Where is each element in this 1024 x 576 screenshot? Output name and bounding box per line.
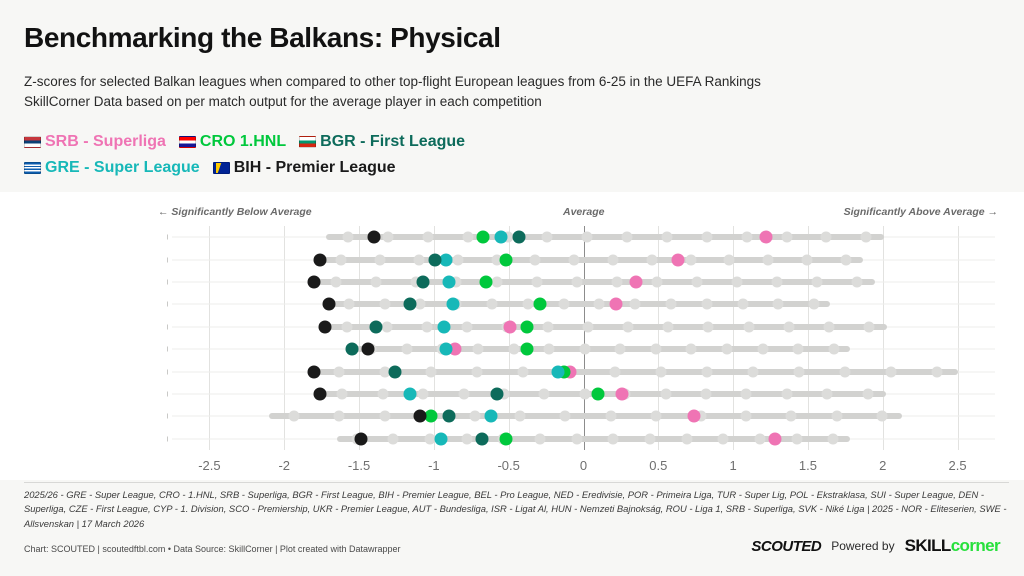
other-league-point <box>487 299 498 310</box>
other-league-point <box>377 389 388 400</box>
data-point-bgr[interactable] <box>477 231 490 244</box>
other-league-point <box>724 254 735 265</box>
other-league-point <box>630 299 641 310</box>
other-league-point <box>748 366 759 377</box>
other-league-point <box>685 254 696 265</box>
other-league-point <box>518 366 529 377</box>
legend-item-label: GRE - Super League <box>45 159 200 176</box>
other-league-point <box>401 344 412 355</box>
other-league-point <box>737 299 748 310</box>
other-league-point <box>515 411 526 422</box>
scatter-plot: -2.5-2-1.5-1-0.500.511.522.5PSV-99Sprint… <box>172 226 995 450</box>
data-point-gre[interactable] <box>442 276 455 289</box>
other-league-point <box>615 344 626 355</box>
other-league-point <box>661 232 672 243</box>
other-league-point <box>611 277 622 288</box>
other-league-point <box>289 411 300 422</box>
other-league-point <box>755 433 766 444</box>
data-point-bgr[interactable] <box>520 343 533 356</box>
other-league-point <box>452 254 463 265</box>
data-point-srb[interactable] <box>504 320 517 333</box>
other-league-point <box>535 433 546 444</box>
x-axis-tick-label: 1 <box>730 458 737 473</box>
other-league-point <box>522 299 533 310</box>
other-league-point <box>781 389 792 400</box>
chart-page: Benchmarking the Balkans: Physical Z-sco… <box>0 0 1024 576</box>
data-point-bih[interactable] <box>323 298 336 311</box>
skillcorner-logo: SKILLcorner <box>905 536 1000 556</box>
data-point-srb[interactable] <box>616 388 629 401</box>
data-point-gre[interactable] <box>438 320 451 333</box>
other-league-point <box>741 411 752 422</box>
other-league-point <box>703 321 714 332</box>
data-point-bgr[interactable] <box>480 276 493 289</box>
data-point-cro[interactable] <box>442 410 455 423</box>
y-axis-tick <box>167 324 168 329</box>
data-point-bih[interactable] <box>308 276 321 289</box>
y-axis-tick <box>167 436 168 441</box>
other-league-point <box>757 344 768 355</box>
other-league-point <box>700 389 711 400</box>
other-league-point <box>582 232 593 243</box>
other-league-point <box>732 277 743 288</box>
data-point-bgr[interactable] <box>592 388 605 401</box>
other-league-point <box>812 277 823 288</box>
skillcorner-logo-skill: SKILL <box>905 536 951 555</box>
croatia-flag-icon <box>179 136 196 148</box>
data-point-bgr[interactable] <box>499 253 512 266</box>
other-league-point <box>508 344 519 355</box>
other-league-point <box>650 344 661 355</box>
other-league-point <box>530 254 541 265</box>
other-league-point <box>861 232 872 243</box>
other-league-point <box>786 411 797 422</box>
x-axis-tick-label: -2.5 <box>198 458 220 473</box>
other-league-point <box>802 254 813 265</box>
axis-hint-center: Average <box>563 206 604 218</box>
other-league-point <box>542 321 553 332</box>
y-axis-tick <box>167 347 168 352</box>
data-point-gre[interactable] <box>495 231 508 244</box>
data-point-cro[interactable] <box>388 365 401 378</box>
other-league-point <box>701 299 712 310</box>
range-bar <box>320 257 863 263</box>
other-league-point <box>743 321 754 332</box>
range-bar <box>269 413 902 419</box>
data-point-bgr[interactable] <box>499 432 512 445</box>
y-axis-tick <box>167 235 168 240</box>
other-league-point <box>579 389 590 400</box>
data-point-cro[interactable] <box>417 276 430 289</box>
data-point-srb[interactable] <box>769 432 782 445</box>
other-league-point <box>341 321 352 332</box>
data-point-srb[interactable] <box>629 276 642 289</box>
data-point-bih[interactable] <box>314 388 327 401</box>
other-league-point <box>623 321 634 332</box>
other-league-point <box>828 433 839 444</box>
legend-item-bih: BIH - Premier League <box>213 156 396 182</box>
other-league-point <box>539 389 550 400</box>
other-league-point <box>650 411 661 422</box>
data-point-cro[interactable] <box>403 298 416 311</box>
other-league-point <box>885 366 896 377</box>
other-league-point <box>610 366 621 377</box>
other-league-point <box>645 433 656 444</box>
other-league-point <box>691 277 702 288</box>
data-point-cro[interactable] <box>513 231 526 244</box>
x-axis-tick-label: 1.5 <box>799 458 817 473</box>
data-point-cro[interactable] <box>490 388 503 401</box>
other-league-point <box>722 344 733 355</box>
range-bar <box>314 369 957 375</box>
other-league-point <box>544 344 555 355</box>
other-league-point <box>793 344 804 355</box>
other-league-point <box>931 366 942 377</box>
y-axis-tick <box>167 302 168 307</box>
other-league-point <box>651 277 662 288</box>
bosnia-flag-icon <box>213 162 230 174</box>
axis-hint-right: Significantly Above Average → <box>844 206 998 218</box>
legend-item-gre: GRE - Super League <box>24 156 200 182</box>
other-league-point <box>571 433 582 444</box>
other-league-point <box>741 232 752 243</box>
x-axis-tick-label: -1 <box>428 458 440 473</box>
footnote-text: 2025/26 - GRE - Super League, CRO - 1.HN… <box>24 488 1009 531</box>
other-league-point <box>791 433 802 444</box>
other-league-point <box>622 232 633 243</box>
other-league-point <box>334 411 345 422</box>
subtitle-line-1: Z-scores for selected Balkan leagues whe… <box>24 72 954 92</box>
other-league-point <box>823 321 834 332</box>
data-point-bih[interactable] <box>314 253 327 266</box>
other-league-point <box>876 411 887 422</box>
data-point-gre[interactable] <box>552 365 565 378</box>
data-point-cro[interactable] <box>429 253 442 266</box>
other-league-point <box>331 277 342 288</box>
other-league-point <box>840 254 851 265</box>
data-point-bih[interactable] <box>318 320 331 333</box>
other-league-point <box>418 389 429 400</box>
other-league-point <box>828 344 839 355</box>
other-league-point <box>831 411 842 422</box>
data-point-cro[interactable] <box>369 320 382 333</box>
other-league-point <box>582 321 593 332</box>
range-bar <box>314 279 875 285</box>
other-league-point <box>382 232 393 243</box>
other-league-point <box>772 277 783 288</box>
other-league-point <box>560 411 571 422</box>
other-league-point <box>701 232 712 243</box>
data-point-bih[interactable] <box>368 231 381 244</box>
credit-text: Chart: SCOUTED | scoutedftbl.com • Data … <box>24 544 400 554</box>
data-point-srb[interactable] <box>760 231 773 244</box>
other-league-point <box>822 389 833 400</box>
other-league-point <box>542 232 553 243</box>
data-point-cro[interactable] <box>475 432 488 445</box>
other-league-point <box>852 277 863 288</box>
data-point-gre[interactable] <box>403 388 416 401</box>
data-point-srb[interactable] <box>610 298 623 311</box>
page-title: Benchmarking the Balkans: Physical <box>24 22 501 54</box>
other-league-point <box>783 321 794 332</box>
other-league-point <box>862 389 873 400</box>
other-league-point <box>864 321 875 332</box>
other-league-point <box>809 299 820 310</box>
x-axis-tick-label: 2.5 <box>949 458 967 473</box>
legend-item-label: CRO 1.HNL <box>200 133 286 150</box>
data-point-bih[interactable] <box>354 432 367 445</box>
other-league-point <box>794 366 805 377</box>
serbia-flag-icon <box>24 136 41 148</box>
data-point-cro[interactable] <box>345 343 358 356</box>
other-league-point <box>608 254 619 265</box>
legend-item-cro: CRO 1.HNL <box>179 130 286 156</box>
data-point-bgr[interactable] <box>520 320 533 333</box>
other-league-point <box>763 254 774 265</box>
scouted-logo: SCOUTED <box>751 538 821 555</box>
other-league-point <box>666 299 677 310</box>
skillcorner-logo-corner: corner <box>951 536 1000 555</box>
chart-legend: SRB - SuperligaCRO 1.HNLBGR - First Leag… <box>24 130 824 182</box>
y-axis-tick <box>167 414 168 419</box>
powered-by-label: Powered by <box>831 539 894 553</box>
y-axis-tick <box>167 392 168 397</box>
other-league-point <box>558 299 569 310</box>
axis-hint-left: ← Significantly Below Average <box>158 206 312 218</box>
brand-row: SCOUTED Powered by SKILLcorner <box>751 536 1000 556</box>
other-league-point <box>594 299 605 310</box>
other-league-point <box>388 433 399 444</box>
other-league-point <box>415 299 426 310</box>
other-league-point <box>579 344 590 355</box>
other-league-point <box>375 254 386 265</box>
other-league-point <box>379 299 390 310</box>
range-bar <box>352 346 850 352</box>
x-axis-tick-label: -1.5 <box>348 458 370 473</box>
other-league-point <box>379 411 390 422</box>
data-point-gre[interactable] <box>435 432 448 445</box>
greece-flag-icon <box>24 162 41 174</box>
subtitle-line-2: SkillCorner Data based on per match outp… <box>24 92 954 112</box>
chart-subtitle: Z-scores for selected Balkan leagues whe… <box>24 72 954 113</box>
other-league-point <box>422 321 433 332</box>
data-point-gre[interactable] <box>439 343 452 356</box>
legend-item-bgr: BGR - First League <box>299 130 465 156</box>
other-league-point <box>458 389 469 400</box>
x-axis-tick-label: -2 <box>278 458 290 473</box>
other-league-point <box>472 344 483 355</box>
other-league-point <box>371 277 382 288</box>
data-point-bih[interactable] <box>308 365 321 378</box>
other-league-point <box>469 411 480 422</box>
other-league-point <box>781 232 792 243</box>
other-league-point <box>426 366 437 377</box>
other-league-point <box>663 321 674 332</box>
other-league-point <box>462 232 473 243</box>
data-point-bgr[interactable] <box>534 298 547 311</box>
y-axis-tick <box>167 369 168 374</box>
other-league-point <box>461 433 472 444</box>
data-point-bih[interactable] <box>414 410 427 423</box>
other-league-point <box>605 411 616 422</box>
other-league-point <box>472 366 483 377</box>
other-league-point <box>336 254 347 265</box>
other-league-point <box>462 321 473 332</box>
legend-item-srb: SRB - Superliga <box>24 130 166 156</box>
x-axis-tick-label: 0.5 <box>649 458 667 473</box>
other-league-point <box>718 433 729 444</box>
other-league-point <box>702 366 713 377</box>
other-league-point <box>381 321 392 332</box>
other-league-point <box>660 389 671 400</box>
other-league-point <box>686 344 697 355</box>
footer-divider <box>24 482 1009 483</box>
range-bar <box>326 234 884 240</box>
other-league-point <box>821 232 832 243</box>
other-league-point <box>414 254 425 265</box>
other-league-point <box>343 232 354 243</box>
x-axis-tick-label: 0 <box>580 458 587 473</box>
data-point-gre[interactable] <box>447 298 460 311</box>
data-point-bih[interactable] <box>362 343 375 356</box>
other-league-point <box>334 366 345 377</box>
data-point-gre[interactable] <box>484 410 497 423</box>
range-bar <box>325 324 888 330</box>
legend-item-label: SRB - Superliga <box>45 133 166 150</box>
legend-item-label: BGR - First League <box>320 133 465 150</box>
y-axis-tick <box>167 257 168 262</box>
data-point-srb[interactable] <box>688 410 701 423</box>
legend-item-label: BIH - Premier League <box>234 159 396 176</box>
other-league-point <box>646 254 657 265</box>
bulgaria-flag-icon <box>299 136 316 148</box>
other-league-point <box>608 433 619 444</box>
other-league-point <box>571 277 582 288</box>
other-league-point <box>741 389 752 400</box>
y-axis-tick <box>167 280 168 285</box>
other-league-point <box>839 366 850 377</box>
other-league-point <box>343 299 354 310</box>
other-league-point <box>337 389 348 400</box>
other-league-point <box>656 366 667 377</box>
other-league-point <box>773 299 784 310</box>
x-axis-tick-label: 2 <box>879 458 886 473</box>
x-axis-tick-label: -0.5 <box>497 458 519 473</box>
other-league-point <box>569 254 580 265</box>
other-league-point <box>681 433 692 444</box>
other-league-point <box>531 277 542 288</box>
data-point-srb[interactable] <box>671 253 684 266</box>
other-league-point <box>422 232 433 243</box>
